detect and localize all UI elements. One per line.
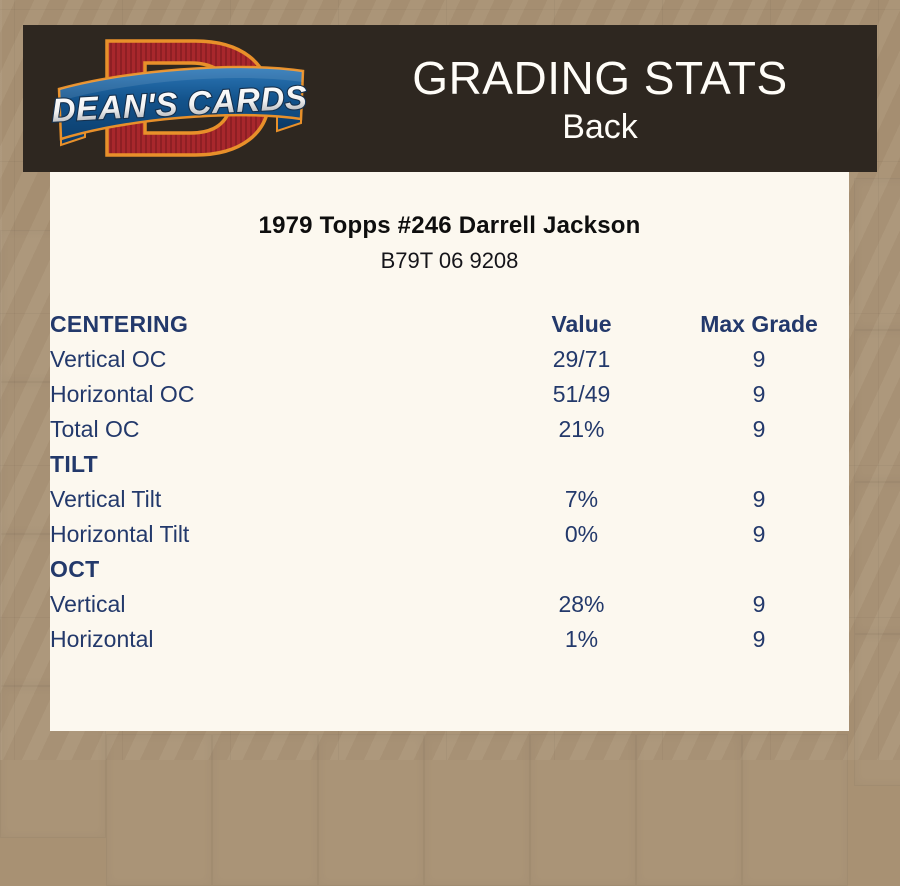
row-max-grade: 9 [669,517,849,552]
section-row: OCT [50,552,849,587]
content-panel: 1979 Topps #246 Darrell Jackson B79T 06 … [50,172,849,731]
row-value: 21% [494,412,669,447]
table-row: Vertical28%9 [50,587,849,622]
row-label: Total OC [50,412,494,447]
row-max-grade: 9 [669,482,849,517]
row-label: Horizontal OC [50,377,494,412]
section-spacer-grade [669,552,849,587]
table-row: Horizontal OC51/499 [50,377,849,412]
column-header-centering: CENTERING [50,307,494,342]
row-max-grade: 9 [669,412,849,447]
row-label: Vertical [50,587,494,622]
row-value: 51/49 [494,377,669,412]
card-title: 1979 Topps #246 Darrell Jackson [50,212,849,240]
section-spacer-value [494,447,669,482]
row-value: 1% [494,622,669,657]
row-max-grade: 9 [669,622,849,657]
table-row: Vertical OC29/719 [50,342,849,377]
section-title: TILT [50,447,494,482]
table-row: Total OC21%9 [50,412,849,447]
row-value: 7% [494,482,669,517]
table-row: Horizontal1%9 [50,622,849,657]
row-value: 0% [494,517,669,552]
row-label: Horizontal Tilt [50,517,494,552]
page-subtitle: Back [562,107,638,147]
header-titles: GRADING STATS Back [323,25,877,172]
row-label: Vertical OC [50,342,494,377]
row-max-grade: 9 [669,377,849,412]
table-row: Vertical Tilt7%9 [50,482,849,517]
table-row: Horizontal Tilt0%9 [50,517,849,552]
section-spacer-grade [669,447,849,482]
section-spacer-value [494,552,669,587]
page-header-bar: DEAN'S CARDS GRADING STATS Back [23,25,877,172]
column-header-max-grade: Max Grade [669,307,849,342]
row-value: 29/71 [494,342,669,377]
table-header: CENTERING Value Max Grade [50,307,849,342]
row-label: Vertical Tilt [50,482,494,517]
table-header-row: CENTERING Value Max Grade [50,307,849,342]
deans-cards-logo: DEAN'S CARDS [45,27,315,170]
section-title: OCT [50,552,494,587]
row-max-grade: 9 [669,587,849,622]
card-serial-number: B79T 06 9208 [50,248,849,274]
table-body: Vertical OC29/719Horizontal OC51/499Tota… [50,342,849,657]
page-title: GRADING STATS [412,51,787,105]
section-row: TILT [50,447,849,482]
grading-stats-table: CENTERING Value Max Grade Vertical OC29/… [50,307,849,657]
row-max-grade: 9 [669,342,849,377]
row-label: Horizontal [50,622,494,657]
row-value: 28% [494,587,669,622]
column-header-value: Value [494,307,669,342]
